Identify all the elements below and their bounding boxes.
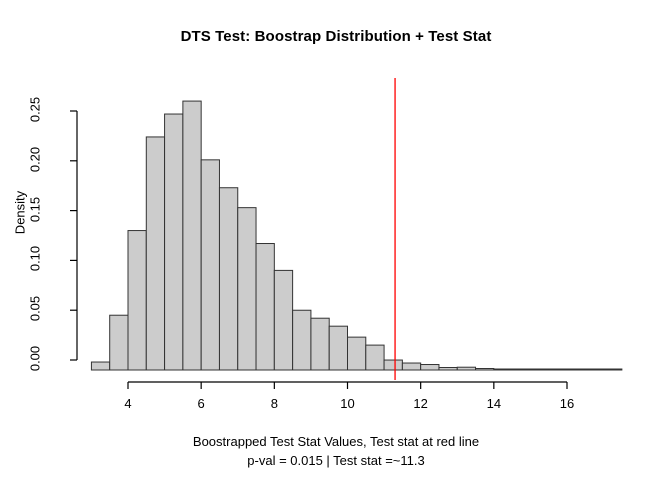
x-tick-label: 12 bbox=[401, 396, 441, 411]
histogram-bar bbox=[256, 244, 274, 370]
y-axis-ticks bbox=[70, 111, 77, 360]
histogram-bar bbox=[128, 231, 146, 370]
histogram-bar bbox=[457, 367, 475, 370]
histogram-bar bbox=[110, 315, 128, 370]
x-tick-label: 14 bbox=[474, 396, 514, 411]
histogram-bar bbox=[604, 369, 622, 370]
histogram-bar bbox=[219, 188, 237, 370]
y-tick-label: 0.05 bbox=[28, 286, 43, 332]
y-tick-label: 0.25 bbox=[28, 87, 43, 133]
histogram-bar bbox=[348, 337, 366, 370]
histogram-bar bbox=[238, 208, 256, 370]
chart-title: DTS Test: Boostrap Distribution + Test S… bbox=[0, 28, 672, 45]
histogram-bar bbox=[402, 363, 420, 370]
x-tick-label: 16 bbox=[547, 396, 587, 411]
histogram-bar bbox=[421, 365, 439, 370]
histogram-bar bbox=[91, 362, 109, 370]
histogram-bar bbox=[201, 160, 219, 370]
histogram-bar bbox=[146, 137, 164, 370]
histogram-bar bbox=[384, 360, 402, 370]
x-tick-label: 8 bbox=[254, 396, 294, 411]
histogram-bar bbox=[293, 310, 311, 370]
histogram-bar bbox=[439, 368, 457, 370]
x-axis-sublabel: p-val = 0.015 | Test stat =~11.3 bbox=[0, 453, 672, 468]
histogram-bar bbox=[585, 369, 603, 370]
histogram-bar bbox=[329, 326, 347, 370]
y-tick-label: 0.15 bbox=[28, 186, 43, 232]
y-axis-label: Density bbox=[13, 153, 28, 273]
histogram-bar bbox=[530, 369, 548, 370]
y-tick-label: 0.20 bbox=[28, 136, 43, 182]
histogram-bars bbox=[91, 101, 621, 370]
x-tick-label: 6 bbox=[181, 396, 221, 411]
y-tick-label: 0.00 bbox=[28, 336, 43, 382]
x-axis-label: Boostrapped Test Stat Values, Test stat … bbox=[0, 434, 672, 449]
histogram-bar bbox=[512, 369, 530, 370]
histogram-bar bbox=[274, 270, 292, 370]
x-tick-label: 10 bbox=[328, 396, 368, 411]
x-axis-ticks bbox=[128, 382, 567, 389]
histogram-bar bbox=[494, 369, 512, 370]
histogram-bar bbox=[165, 114, 183, 370]
x-tick-label: 4 bbox=[108, 396, 148, 411]
histogram-bar bbox=[366, 345, 384, 370]
histogram-bar bbox=[549, 369, 567, 370]
histogram-bar bbox=[183, 101, 201, 370]
histogram-bar bbox=[476, 369, 494, 370]
histogram-bar bbox=[311, 318, 329, 370]
histogram-bar bbox=[567, 369, 585, 370]
y-tick-label: 0.10 bbox=[28, 236, 43, 282]
